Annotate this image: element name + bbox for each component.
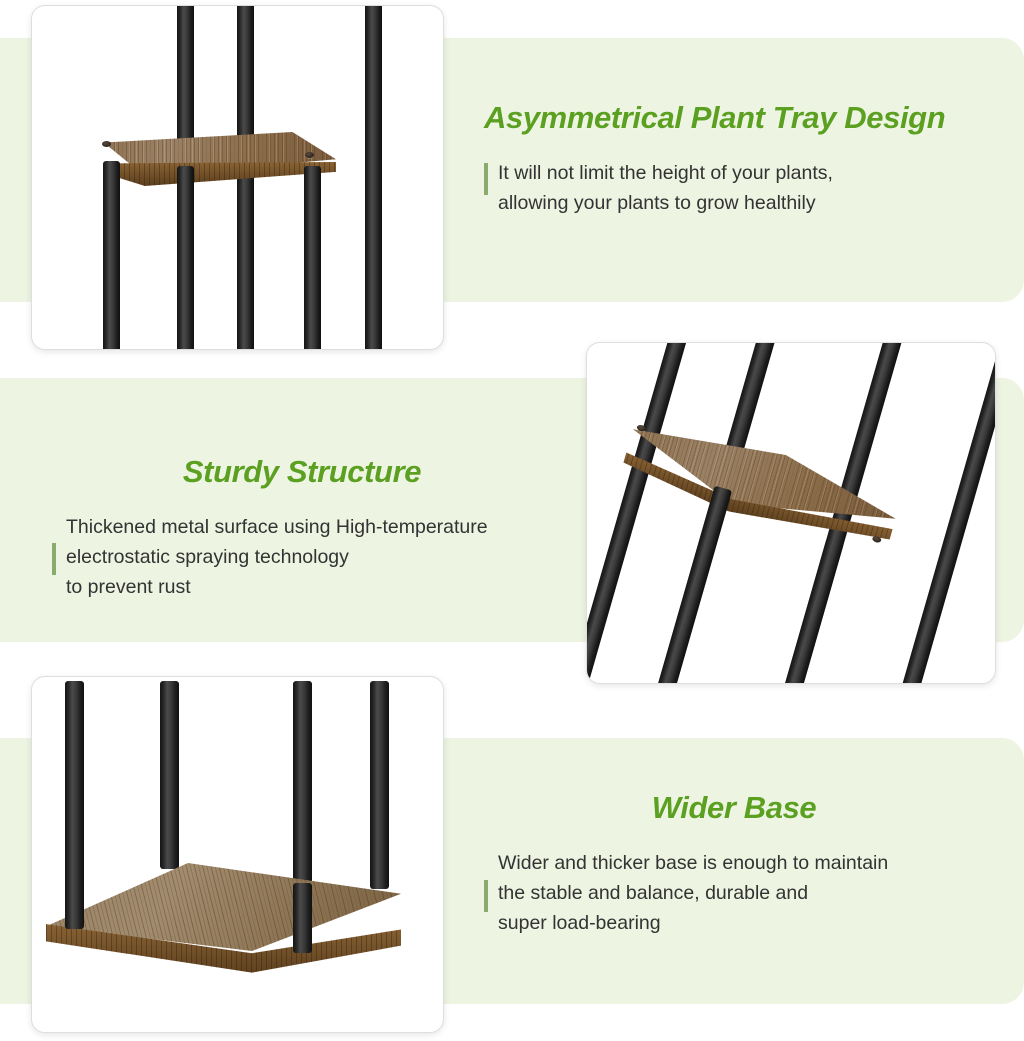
stand-leg-front-right [304,166,321,350]
feature-text-sturdy: Sturdy Structure Thickened metal surface… [52,454,582,602]
angled-assembly [586,342,996,684]
feature-heading-sturdy: Sturdy Structure [52,454,552,490]
stand-leg-angled-4 [873,342,996,684]
product-photo-card-tray [31,5,444,350]
feature-body-wrap-asymmetrical: It will not limit the height of your pla… [484,158,994,218]
feature-body-wider-base: Wider and thicker base is enough to main… [484,848,994,938]
stand-leg-angled-2-front [647,486,732,684]
feature-heading-asymmetrical: Asymmetrical Plant Tray Design [484,100,994,136]
tray-screw-left [102,141,111,147]
base-leg-far-right [370,681,389,889]
product-photo-card-angled-tray [586,342,996,684]
feature-body-wrap-sturdy: Thickened metal surface using High-tempe… [52,512,582,602]
product-illustration-base [32,677,443,1032]
plant-tray-front-edge [94,162,336,186]
feature-heading-wider-base: Wider Base [484,790,984,826]
feature-body-asymmetrical: It will not limit the height of your pla… [484,158,994,218]
tray-screw-right [305,152,314,158]
accent-bar-wider-base [484,880,488,912]
product-illustration-angled-tray [587,343,995,683]
feature-body-wrap-wider-base: Wider and thicker base is enough to main… [484,848,994,938]
stand-leg-angled-3-front [765,538,845,684]
accent-bar-sturdy [52,543,56,575]
stand-leg-front-mid [177,166,194,350]
product-photo-card-base [31,676,444,1033]
base-leg-back-left-lower [65,877,84,929]
feature-body-sturdy: Thickened metal surface using High-tempe… [52,512,582,602]
stand-leg-front-left [103,161,120,350]
stand-leg-far-right [365,5,382,350]
feature-panel-wider-base: Wider Base Wider and thicker base is eno… [0,672,1024,1041]
feature-text-asymmetrical: Asymmetrical Plant Tray Design It will n… [484,100,994,218]
base-leg-front-right-low [293,883,312,953]
stand-leg-angled-1 [586,342,712,684]
feature-panel-asymmetrical-plant-tray-design: Asymmetrical Plant Tray Design It will n… [0,0,1024,360]
base-leg-back-right [160,681,179,869]
product-illustration-tray [32,6,443,349]
feature-panel-sturdy-structure: Sturdy Structure Thickened metal surface… [0,336,1024,686]
accent-bar-asymmetrical [484,163,488,195]
feature-text-wider-base: Wider Base Wider and thicker base is eno… [484,790,994,938]
